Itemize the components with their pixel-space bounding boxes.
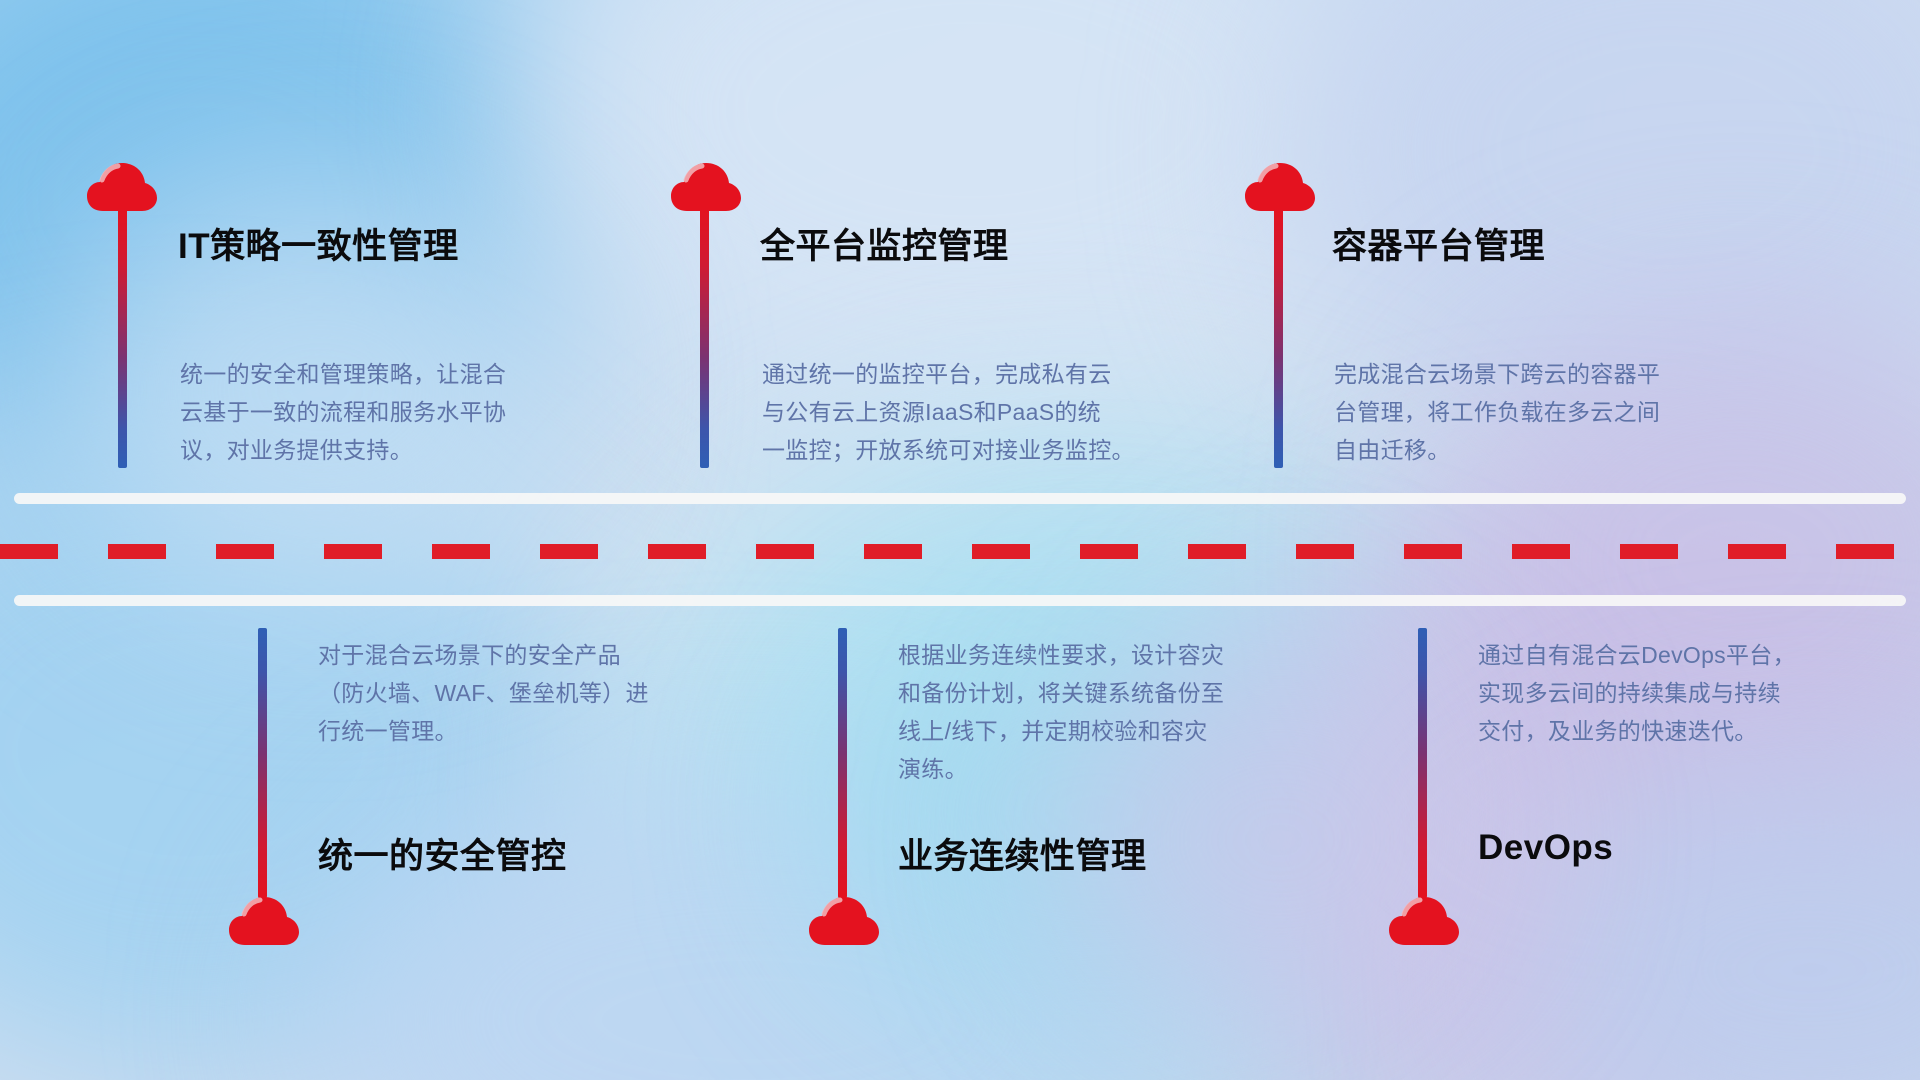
cloud-icon	[86, 160, 158, 212]
card-title: 业务连续性管理	[898, 828, 1147, 879]
dashed-segments	[0, 544, 1920, 559]
card-title: 容器平台管理	[1332, 218, 1545, 269]
divider-line-upper	[14, 493, 1906, 504]
cloud-icon	[670, 160, 742, 212]
card-description: 对于混合云场景下的安全产品 （防火墙、WAF、堡垒机等）进 行统一管理。	[318, 636, 738, 750]
cloud-icon	[1388, 894, 1460, 946]
timeline-stem	[700, 208, 709, 468]
card-title: IT策略一致性管理	[178, 218, 459, 269]
card-description: 通过统一的监控平台，完成私有云 与公有云上资源IaaS和PaaS的统 一监控；开…	[762, 355, 1202, 469]
divider-line-lower	[14, 595, 1906, 606]
card-description: 根据业务连续性要求，设计容灾 和备份计划，将关键系统备份至 线上/线下，并定期校…	[898, 636, 1328, 788]
timeline-stem	[1274, 208, 1283, 468]
timeline-stem	[258, 628, 267, 898]
card-description: 统一的安全和管理策略，让混合 云基于一致的流程和服务水平协 议，对业务提供支持。	[180, 355, 600, 469]
cloud-icon	[228, 894, 300, 946]
cloud-icon	[1244, 160, 1316, 212]
card-title: DevOps	[1478, 828, 1613, 868]
infographic-canvas: IT策略一致性管理 统一的安全和管理策略，让混合 云基于一致的流程和服务水平协 …	[0, 0, 1920, 1080]
cloud-icon	[808, 894, 880, 946]
card-description: 完成混合云场景下跨云的容器平 台管理，将工作负载在多云之间 自由迁移。	[1334, 355, 1764, 469]
timeline-stem	[118, 208, 127, 468]
timeline-stem	[1418, 628, 1427, 898]
timeline-stem	[838, 628, 847, 898]
card-title: 全平台监控管理	[760, 218, 1009, 269]
divider-dashed-red	[0, 544, 1920, 559]
card-title: 统一的安全管控	[318, 828, 567, 879]
card-description: 通过自有混合云DevOps平台， 实现多云间的持续集成与持续 交付，及业务的快速…	[1478, 636, 1898, 750]
